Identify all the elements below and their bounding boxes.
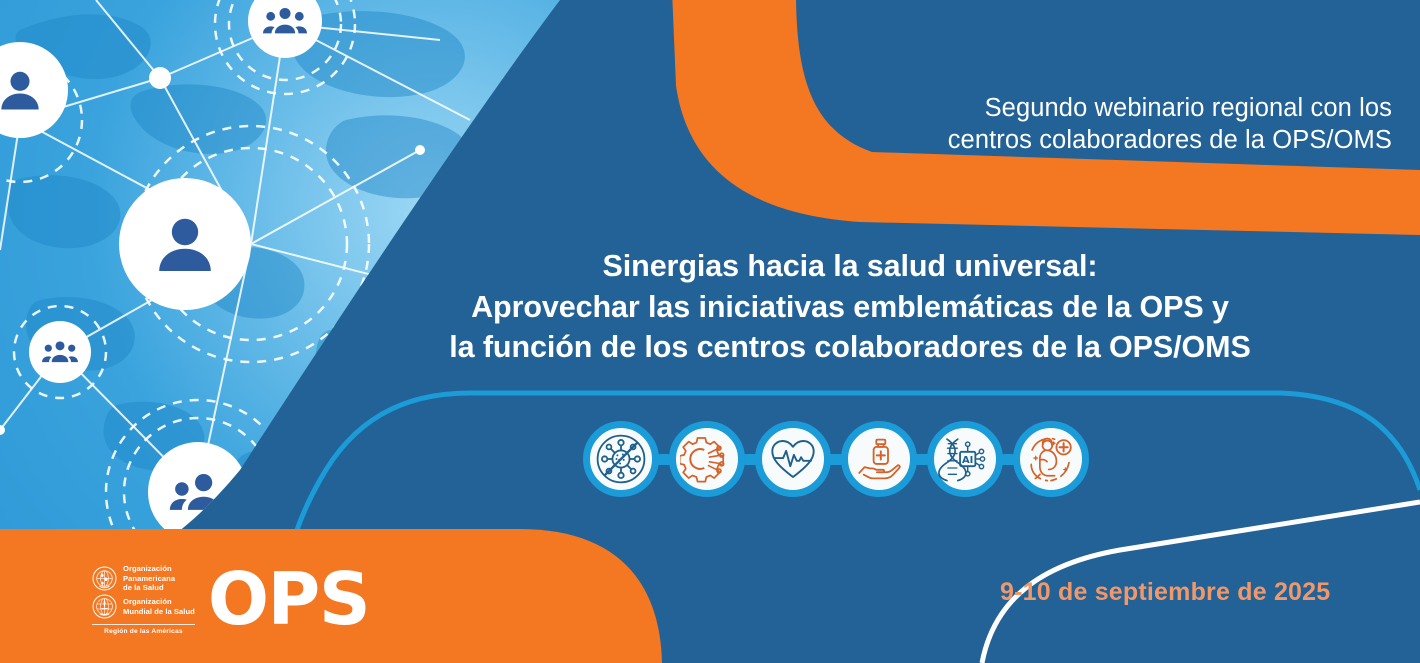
group-avatar-bottom — [148, 442, 248, 542]
paho-logo-text: Organización Panamericana de la Salud — [123, 564, 175, 592]
webinar-banner: Segundo webinario regional con los centr… — [0, 0, 1420, 663]
virus-blocked-icon — [583, 421, 659, 497]
heart-pulse-icon — [755, 421, 831, 497]
logo-region-text: Región de las Américas — [92, 624, 195, 635]
people-group-icon — [168, 462, 228, 522]
headline-line-3: la función de los centros colaboradores … — [300, 327, 1400, 368]
people-group-icon — [263, 0, 307, 43]
event-date: 9-10 de septiembre de 2025 — [1000, 578, 1400, 607]
pregnant-woman-care-icon — [1013, 421, 1089, 497]
who-mark-line: Organización Mundial de la Salud — [92, 594, 195, 619]
person-icon — [149, 208, 221, 280]
kicker-line-2: centros colaboradores de la OPS/OMS — [772, 124, 1392, 156]
who-seal-icon — [92, 594, 117, 619]
paho-text-line-1: Organización — [123, 564, 175, 573]
group-avatar-mid — [29, 321, 91, 383]
headline-text: Sinergias hacia la salud universal: Apro… — [300, 246, 1400, 368]
dna-ai-chip-icon: AI — [927, 421, 1003, 497]
people-group-icon — [42, 334, 78, 370]
hand-medicine-icon — [841, 421, 917, 497]
who-text-line-1: Organización — [123, 597, 195, 606]
paho-mark-line: Organización Panamericana de la Salud — [92, 564, 195, 592]
person-icon — [0, 64, 46, 116]
headline-line-1: Sinergias hacia la salud universal: — [300, 246, 1400, 287]
paho-text-line-2: Panamericana — [123, 574, 175, 583]
person-avatar-large — [119, 178, 251, 310]
paho-seal-icon — [92, 566, 117, 591]
kicker-text: Segundo webinario regional con los centr… — [772, 92, 1392, 156]
ops-logo: Organización Panamericana de la Salud — [92, 564, 369, 635]
who-logo-text: Organización Mundial de la Salud — [123, 597, 195, 616]
ops-wordmark: OPS — [208, 570, 369, 629]
who-text-line-2: Mundial de la Salud — [123, 607, 195, 616]
headline-line-2: Aprovechar las iniciativas emblemáticas … — [300, 287, 1400, 328]
kicker-line-1: Segundo webinario regional con los — [772, 92, 1392, 124]
theme-icon-row: AI — [583, 421, 1089, 497]
paho-text-line-3: de la Salud — [123, 583, 175, 592]
svg-text:AI: AI — [962, 455, 973, 466]
gear-circuit-icon — [669, 421, 745, 497]
ops-logo-marks: Organización Panamericana de la Salud — [92, 564, 195, 635]
white-accent-curve — [700, 480, 1420, 663]
